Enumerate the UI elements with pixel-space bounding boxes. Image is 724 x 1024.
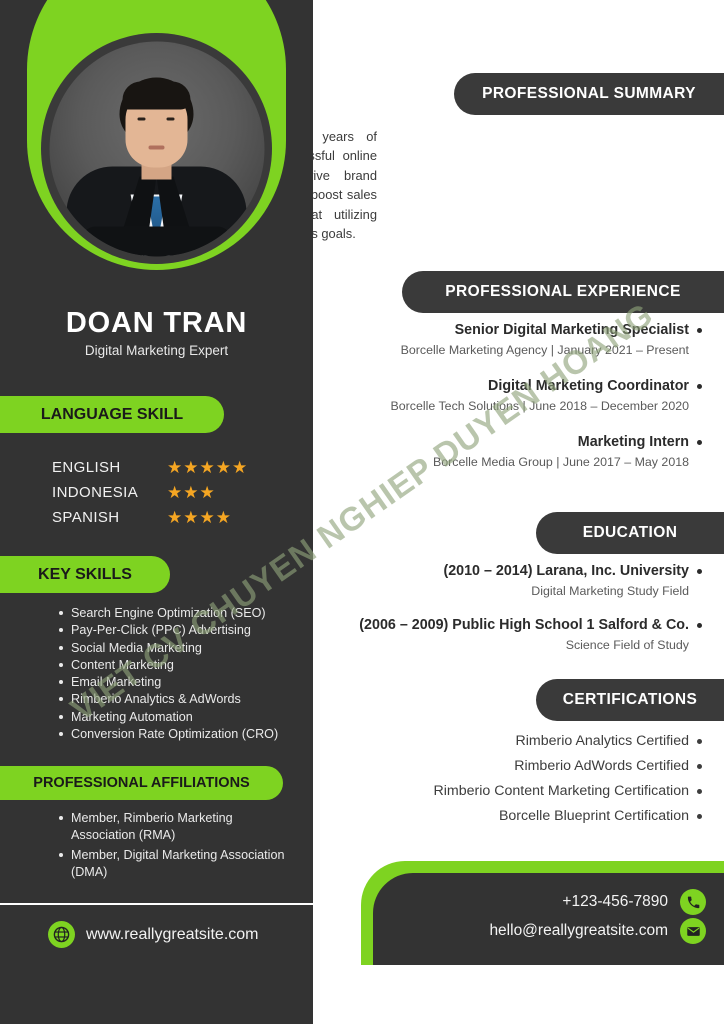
section-header-professional-summary-label: PROFESSIONAL SUMMARY xyxy=(482,85,696,103)
experience-title: Senior Digital Marketing Specialist xyxy=(322,322,702,338)
experience-subtitle: Borcelle Media Group | June 2017 – May 2… xyxy=(322,455,702,469)
section-header-language-skill-label: LANGUAGE SKILL xyxy=(41,406,183,424)
section-header-key-skills: KEY SKILLS xyxy=(0,556,170,593)
list-item: Email Marketing xyxy=(57,674,307,690)
list-item: Member, Rimberio Marketing Association (… xyxy=(57,810,292,843)
section-header-professional-experience: PROFESSIONAL EXPERIENCE xyxy=(402,271,724,313)
section-header-key-skills-label: KEY SKILLS xyxy=(38,566,132,584)
experience-subtitle: Borcelle Marketing Agency | January 2021… xyxy=(322,343,702,357)
contact-email-text: hello@reallygreatsite.com xyxy=(489,922,668,940)
section-header-professional-experience-label: PROFESSIONAL EXPERIENCE xyxy=(445,283,680,301)
portrait-eye-right xyxy=(167,117,175,120)
certifications-list: Rimberio Analytics Certified Rimberio Ad… xyxy=(322,729,702,829)
section-header-professional-affiliations-label: PROFESSIONAL AFFILIATIONS xyxy=(33,775,249,791)
portrait-mouth xyxy=(149,145,165,149)
list-item: Pay-Per-Click (PPC) Advertising xyxy=(57,622,307,638)
list-item: Search Engine Optimization (SEO) xyxy=(57,605,307,621)
education-subtitle: Digital Marketing Study Field xyxy=(322,584,702,598)
portrait-arms xyxy=(82,226,232,256)
list-item: Conversion Rate Optimization (CRO) xyxy=(57,726,307,742)
list-item: Rimberio Content Marketing Certification xyxy=(322,779,702,804)
experience-entry: Senior Digital Marketing Specialist Borc… xyxy=(322,322,702,357)
website-text: www.reallygreatsite.com xyxy=(86,926,259,944)
sidebar-divider xyxy=(0,903,313,905)
experience-title: Marketing Intern xyxy=(322,434,702,450)
list-item: Borcelle Blueprint Certification xyxy=(322,804,702,829)
language-label: SPANISH xyxy=(52,509,167,526)
left-sidebar: DOAN TRAN Digital Marketing Expert LANGU… xyxy=(0,0,313,1024)
portrait-hair-front xyxy=(123,81,191,109)
list-item: Rimberio Analytics Certified xyxy=(322,729,702,754)
person-name: DOAN TRAN xyxy=(0,307,313,340)
list-item: Rimberio AdWords Certified xyxy=(322,754,702,779)
language-rating-stars: ★★★★ xyxy=(167,509,232,526)
language-rating-stars: ★★★★★ xyxy=(167,459,248,476)
list-item: Rimberio Analytics & AdWords xyxy=(57,691,307,707)
section-header-education: EDUCATION xyxy=(536,512,724,554)
language-rating-stars: ★★★ xyxy=(167,484,216,501)
website-row[interactable]: www.reallygreatsite.com xyxy=(48,921,259,948)
envelope-icon xyxy=(680,918,706,944)
section-header-certifications: CERTIFICATIONS xyxy=(536,679,724,721)
experience-entry: Digital Marketing Coordinator Borcelle T… xyxy=(322,378,702,413)
language-label: ENGLISH xyxy=(52,459,167,476)
education-title: (2010 – 2014) Larana, Inc. University xyxy=(322,563,702,579)
phone-icon xyxy=(680,889,706,915)
contact-email-row[interactable]: hello@reallygreatsite.com xyxy=(489,918,706,944)
globe-icon xyxy=(48,921,75,948)
education-title: (2006 – 2009) Public High School 1 Salfo… xyxy=(322,617,702,633)
section-header-language-skill: LANGUAGE SKILL xyxy=(0,396,224,433)
avatar xyxy=(41,33,272,264)
language-row: SPANISH ★★★★ xyxy=(52,505,292,530)
language-label: INDONESIA xyxy=(52,484,167,501)
language-skill-list: ENGLISH ★★★★★ INDONESIA ★★★ SPANISH ★★★★ xyxy=(52,455,292,530)
section-header-professional-summary: PROFESSIONAL SUMMARY xyxy=(454,73,724,115)
section-header-professional-affiliations: PROFESSIONAL AFFILIATIONS xyxy=(0,766,283,800)
portrait-photo xyxy=(49,41,264,256)
list-item: Content Marketing xyxy=(57,657,307,673)
resume-page: DOAN TRAN Digital Marketing Expert LANGU… xyxy=(0,0,724,1024)
list-item: Social Media Marketing xyxy=(57,640,307,656)
contact-phone-row[interactable]: +123-456-7890 xyxy=(562,889,706,915)
language-row: INDONESIA ★★★ xyxy=(52,480,292,505)
person-role: Digital Marketing Expert xyxy=(0,343,313,358)
education-entry: (2006 – 2009) Public High School 1 Salfo… xyxy=(322,617,702,652)
experience-title: Digital Marketing Coordinator xyxy=(322,378,702,394)
education-subtitle: Science Field of Study xyxy=(322,638,702,652)
contact-phone-text: +123-456-7890 xyxy=(562,893,668,911)
experience-subtitle: Borcelle Tech Solutions | June 2018 – De… xyxy=(322,399,702,413)
language-row: ENGLISH ★★★★★ xyxy=(52,455,292,480)
section-header-education-label: EDUCATION xyxy=(583,524,678,542)
education-entry: (2010 – 2014) Larana, Inc. University Di… xyxy=(322,563,702,598)
list-item: Member, Digital Marketing Association (D… xyxy=(57,847,292,880)
experience-entry: Marketing Intern Borcelle Media Group | … xyxy=(322,434,702,469)
affiliations-list: Member, Rimberio Marketing Association (… xyxy=(57,810,292,884)
portrait-eye-left xyxy=(138,117,146,120)
key-skills-list: Search Engine Optimization (SEO) Pay-Per… xyxy=(57,605,307,743)
section-header-certifications-label: CERTIFICATIONS xyxy=(563,691,697,709)
list-item: Marketing Automation xyxy=(57,709,307,725)
